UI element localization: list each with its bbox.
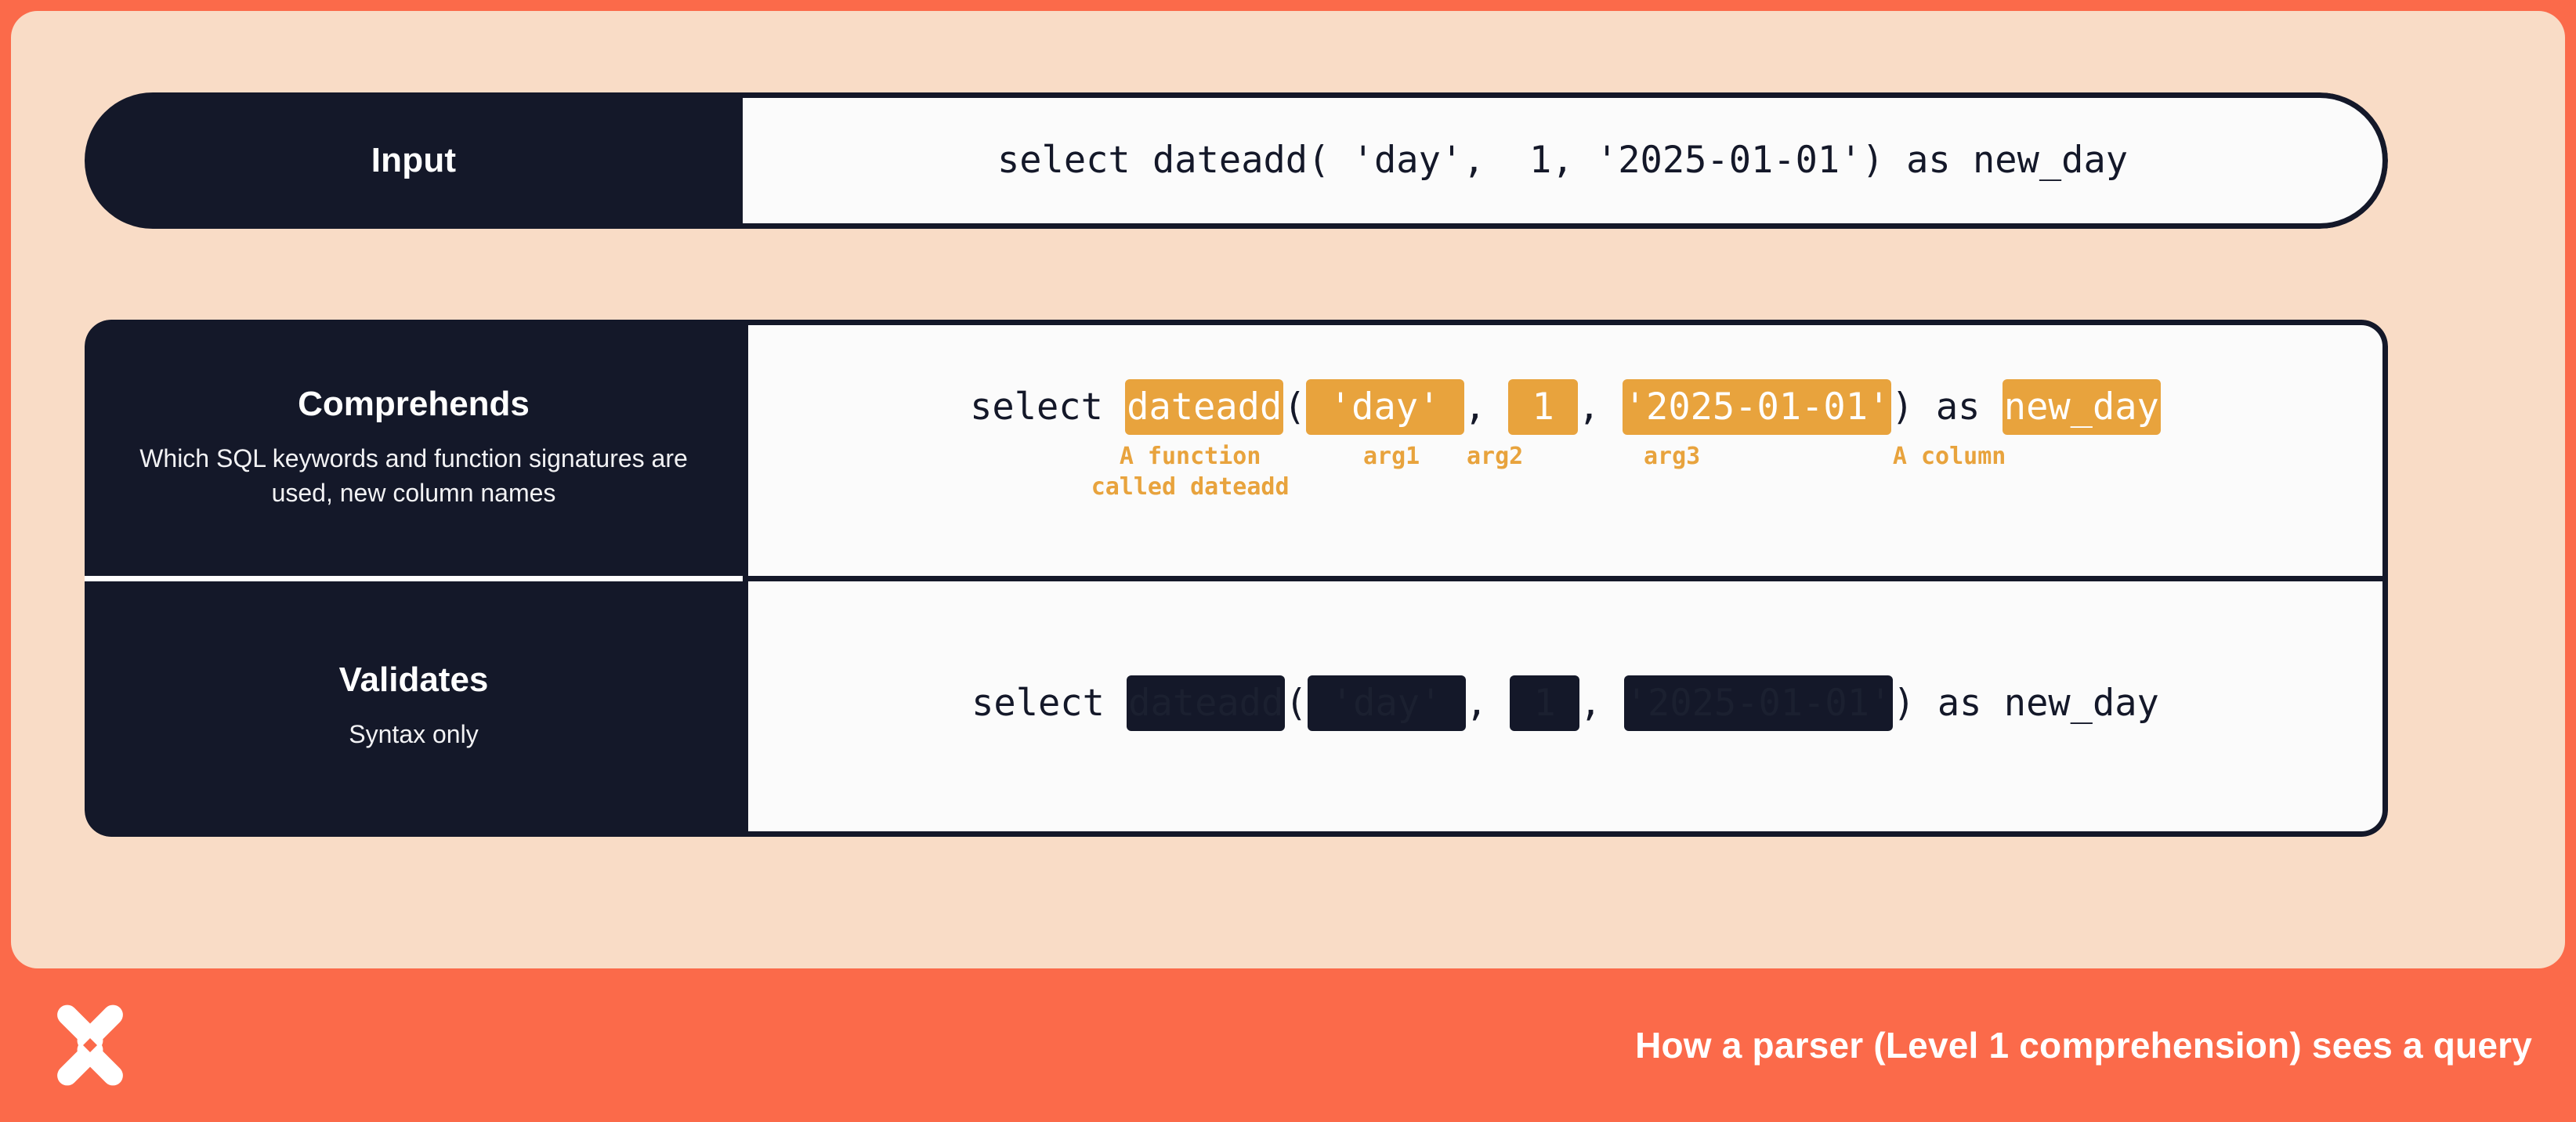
input-code-cell: select dateadd( 'day', 1, '2025-01-01') … — [743, 92, 2388, 229]
validates-sql-code: select dateadd( 'day' , 1 , '2025-01-01'… — [971, 681, 2159, 727]
validates-token-6: , — [1579, 682, 1624, 725]
comprehends-token-8: ) as — [1891, 385, 2002, 429]
comprehends-annotation-1: arg1 — [1341, 441, 1442, 472]
validates-row-subtitle: Syntax only — [349, 717, 478, 751]
validates-token-5: 1 — [1510, 675, 1579, 731]
row-divider — [85, 576, 2388, 581]
input-row-title: Input — [371, 141, 457, 180]
comprehends-annotation-4: A column — [1847, 441, 2051, 472]
comprehends-code-cell: select dateadd( 'day' , 1 , '2025-01-01'… — [743, 320, 2388, 576]
comprehends-row-subtitle: Which SQL keywords and function signatur… — [121, 441, 707, 510]
comprehends-token-4: , — [1464, 385, 1509, 429]
comprehends-annotation-0: A function called dateadd — [1061, 441, 1319, 502]
validates-token-2: ( — [1285, 682, 1307, 725]
poster-root: Input select dateadd( 'day', 1, '2025-01… — [0, 0, 2576, 1122]
validates-token-0: select — [971, 682, 1127, 725]
comprehends-row-title: Comprehends — [298, 385, 530, 423]
comprehends-token-5: 1 — [1508, 379, 1578, 435]
parser-comparison-card: Comprehends Which SQL keywords and funct… — [85, 320, 2388, 837]
input-row: Input select dateadd( 'day', 1, '2025-01… — [85, 92, 2388, 229]
validates-row: Validates Syntax only select dateadd( 'd… — [85, 576, 2388, 837]
validates-token-8: ) as new_day — [1893, 682, 2159, 725]
validates-token-1: dateadd — [1127, 675, 1285, 731]
validates-row-title: Validates — [339, 661, 489, 699]
validates-code-cell: select dateadd( 'day' , 1 , '2025-01-01'… — [743, 576, 2388, 837]
comprehends-sql-code: select dateadd( 'day' , 1 , '2025-01-01'… — [970, 385, 2161, 431]
comprehends-token-2: ( — [1283, 385, 1305, 429]
comprehends-code-stack: select dateadd( 'day' , 1 , '2025-01-01'… — [970, 385, 2161, 517]
comprehends-token-1: dateadd — [1125, 379, 1283, 435]
comprehends-annotation-2: arg2 — [1451, 441, 1539, 472]
comprehends-token-3: 'day' — [1306, 379, 1464, 435]
validates-token-4: , — [1466, 682, 1511, 725]
comprehends-token-0: select — [970, 385, 1125, 429]
row-divider-right — [743, 576, 2388, 581]
row-divider-left — [85, 576, 743, 581]
validates-token-7: '2025-01-01' — [1624, 675, 1894, 731]
x-star-logo-icon — [49, 1004, 132, 1087]
comprehends-token-6: , — [1578, 385, 1623, 429]
comprehends-token-9: new_day — [2003, 379, 2161, 435]
validates-label-cell: Validates Syntax only — [85, 576, 743, 837]
comprehends-annotation-row: A function called dateaddarg1arg2arg3A c… — [970, 441, 2161, 516]
input-label-cell: Input — [85, 92, 743, 229]
footer-bar: How a parser (Level 1 comprehension) see… — [0, 968, 2576, 1122]
footer-caption: How a parser (Level 1 comprehension) see… — [1635, 1024, 2532, 1066]
comprehends-label-cell: Comprehends Which SQL keywords and funct… — [85, 320, 743, 576]
comprehends-token-7: '2025-01-01' — [1623, 379, 1892, 435]
input-sql-code: select dateadd( 'day', 1, '2025-01-01') … — [997, 138, 2128, 184]
comprehends-row: Comprehends Which SQL keywords and funct… — [85, 320, 2388, 576]
validates-token-3: 'day' — [1308, 675, 1466, 731]
comprehends-annotation-3: arg3 — [1561, 441, 1783, 472]
